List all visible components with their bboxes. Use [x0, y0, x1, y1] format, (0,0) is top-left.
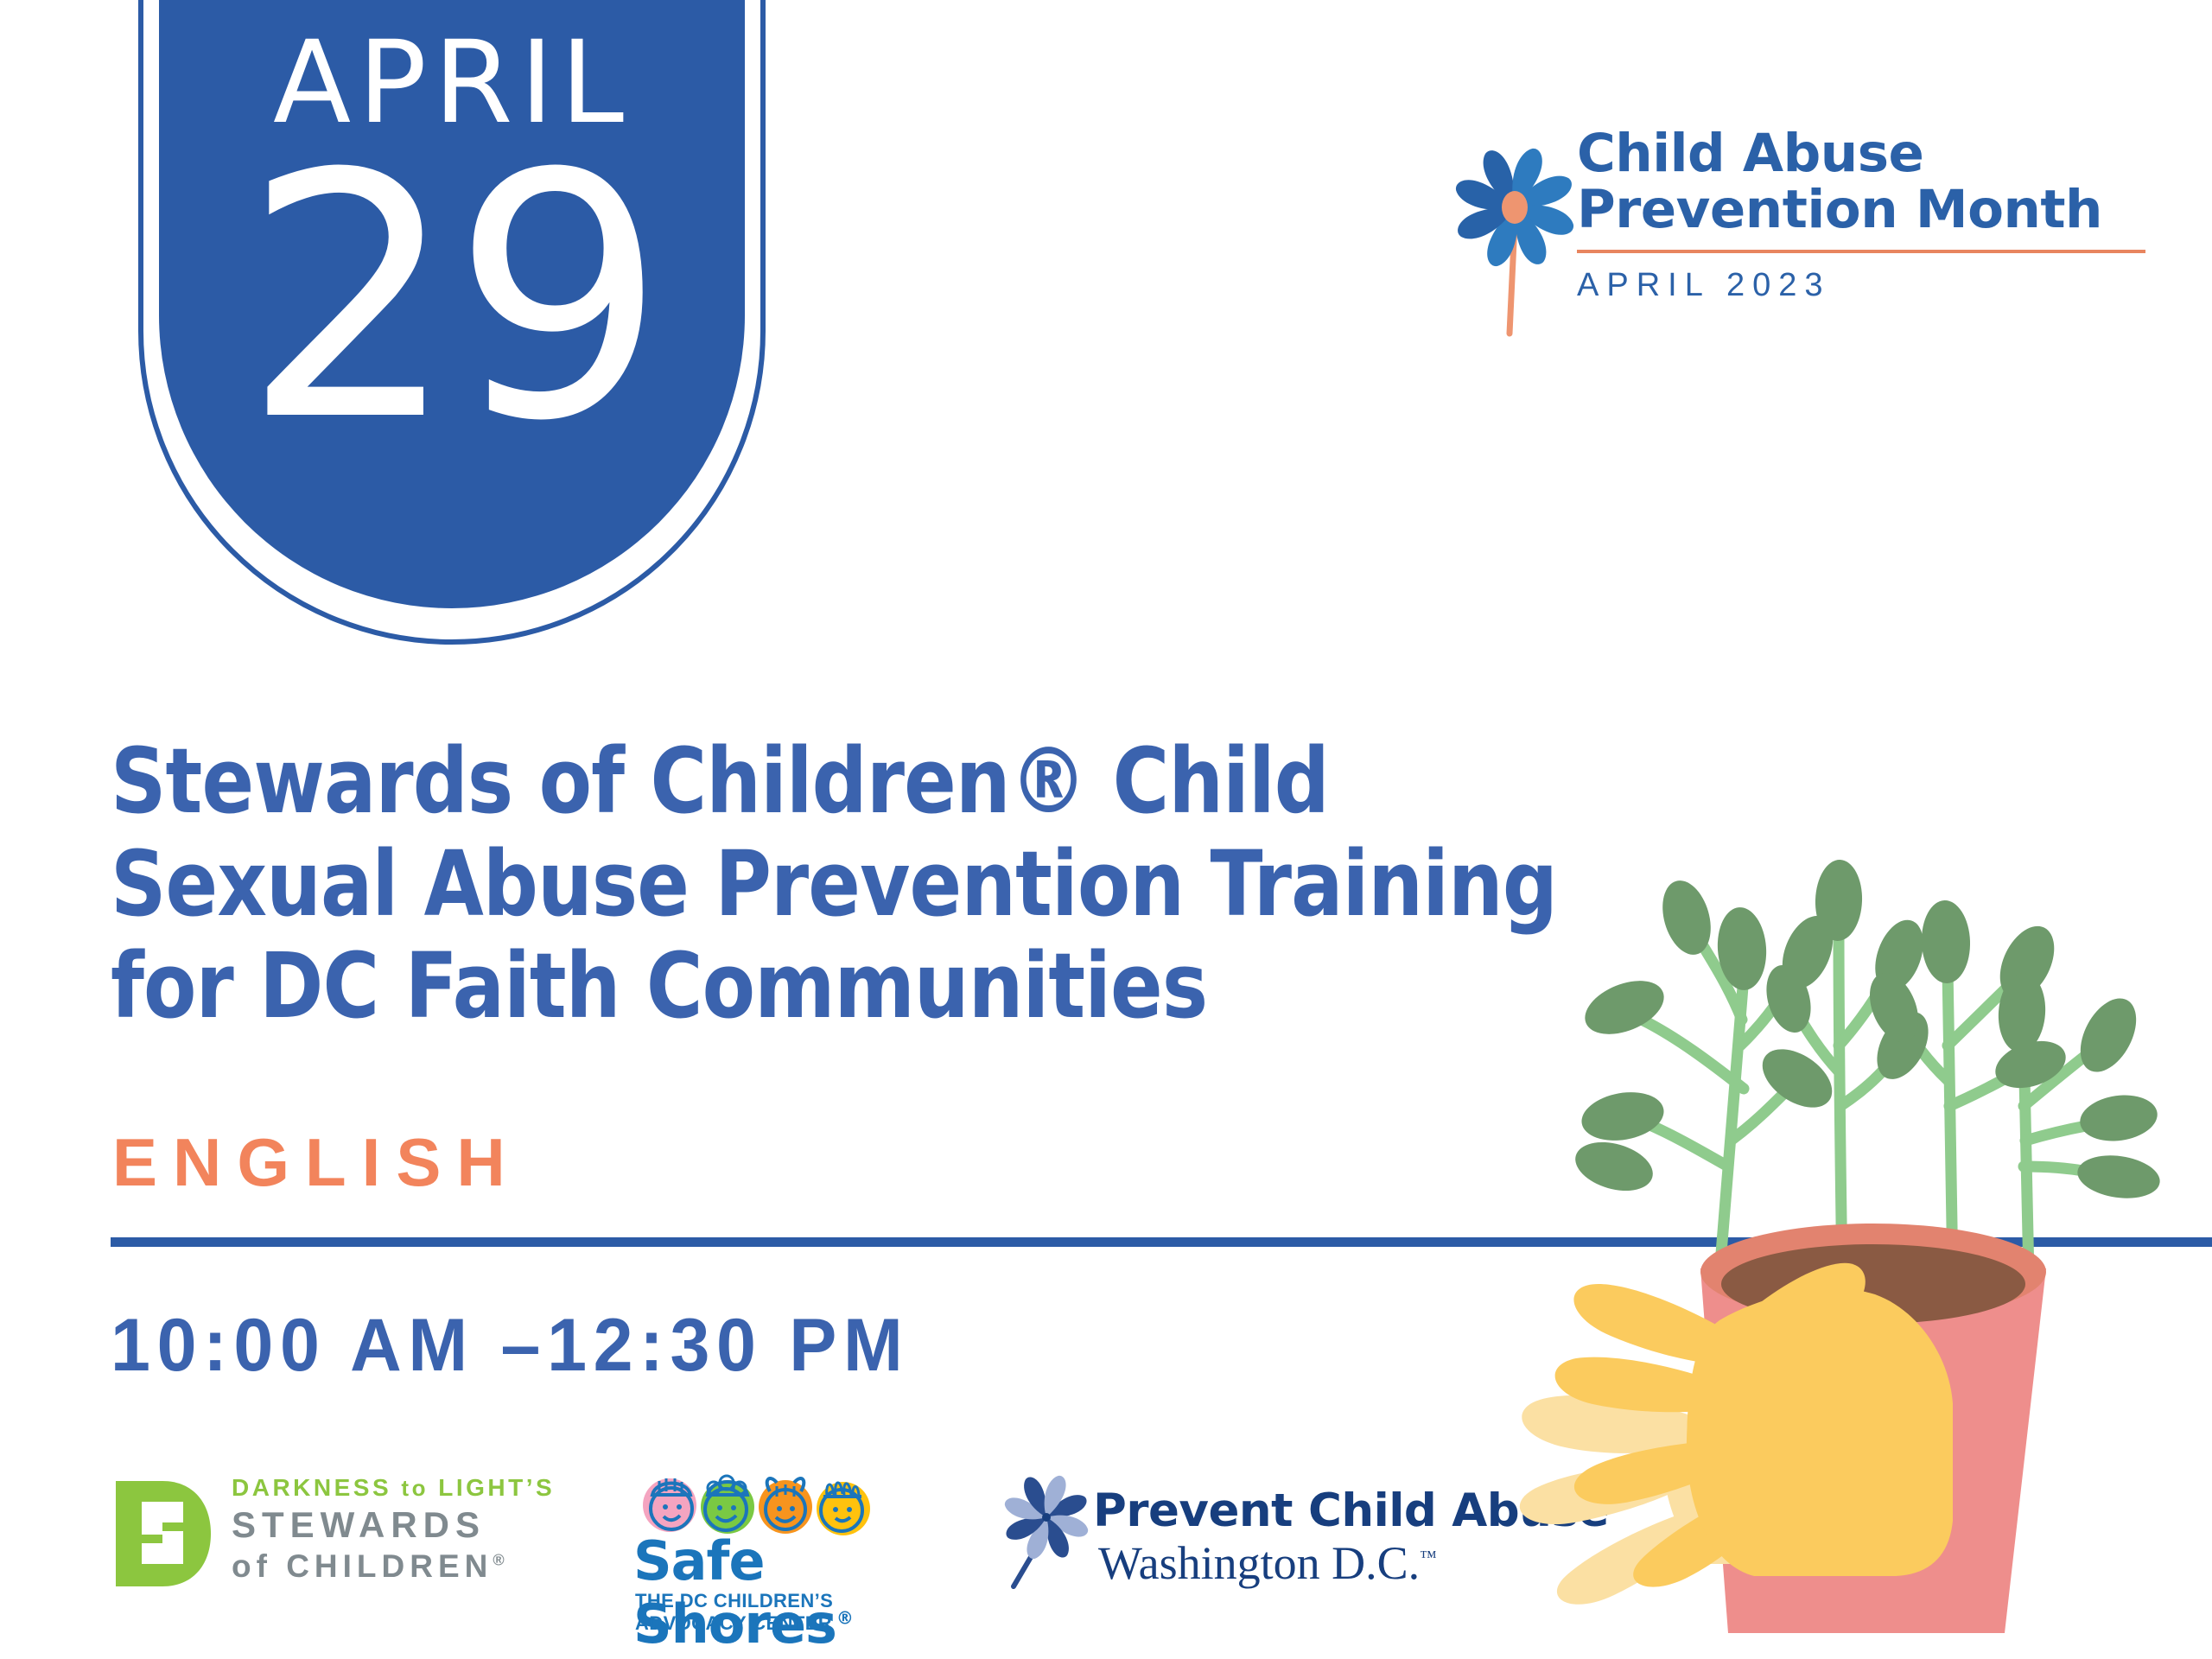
- pinwheel-icon: [1439, 121, 1594, 337]
- date-badge-body: APRIL 29: [159, 0, 745, 608]
- d2l-tagline: DARKNESS to LIGHT’S: [232, 1474, 555, 1502]
- child-abuse-prevention-month-logo: Child Abuse Prevention Month APRIL 2023: [1439, 121, 2147, 354]
- headline-line-2: Sexual Abuse Prevention Training: [111, 833, 1463, 936]
- headline-line-1: Stewards of Children® Child: [111, 730, 1463, 833]
- badge-day-number: 29: [159, 130, 745, 467]
- page-title: Stewards of Children® Child Sexual Abuse…: [111, 730, 1683, 1038]
- pinwheel-icon: [996, 1469, 1100, 1590]
- safe-shores-tagline: THE DC CHILDREN’S ADVOCACY CENTER: [635, 1590, 927, 1635]
- event-flyer: APRIL 29: [0, 0, 2212, 1659]
- language-label: ENGLISH: [112, 1123, 521, 1202]
- capm-title-line2: Prevention Month: [1577, 182, 2147, 238]
- capm-subtitle: APRIL 2023: [1577, 267, 2147, 304]
- d2l-name-line1: STEWARDS: [232, 1504, 555, 1546]
- gardening-gloves: [1520, 1263, 1953, 1605]
- pca-name-line2: Washington D.C.™: [1098, 1536, 1437, 1590]
- capm-title-line1: Child Abuse: [1577, 126, 2147, 182]
- event-time: 10:00 AM –12:30 PM: [111, 1303, 909, 1389]
- d2l-name-line2: of CHILDREN®: [232, 1548, 555, 1585]
- headline-line-3: for DC Faith Communities: [111, 935, 1463, 1038]
- d2l-text-block: DARKNESS to LIGHT’S STEWARDS of CHILDREN…: [232, 1474, 555, 1585]
- date-badge: APRIL 29: [138, 0, 769, 648]
- prevent-child-abuse-dc-logo: Prevent Child Abuse Washington D.C.™: [996, 1469, 1532, 1607]
- four-children-faces-icon: [640, 1469, 874, 1535]
- d2l-monogram-icon: [111, 1478, 214, 1590]
- safe-shores-logo: Safe Shores® THE DC CHILDREN’S ADVOCACY …: [633, 1469, 927, 1616]
- darkness-to-light-logo: DARKNESS to LIGHT’S STEWARDS of CHILDREN…: [111, 1469, 560, 1607]
- capm-text-block: Child Abuse Prevention Month APRIL 2023: [1577, 126, 2147, 304]
- potted-plant-and-gardening-gloves: [1469, 760, 2212, 1659]
- sponsor-logo-row: DARKNESS to LIGHT’S STEWARDS of CHILDREN…: [111, 1469, 1532, 1624]
- capm-divider: [1577, 250, 2145, 253]
